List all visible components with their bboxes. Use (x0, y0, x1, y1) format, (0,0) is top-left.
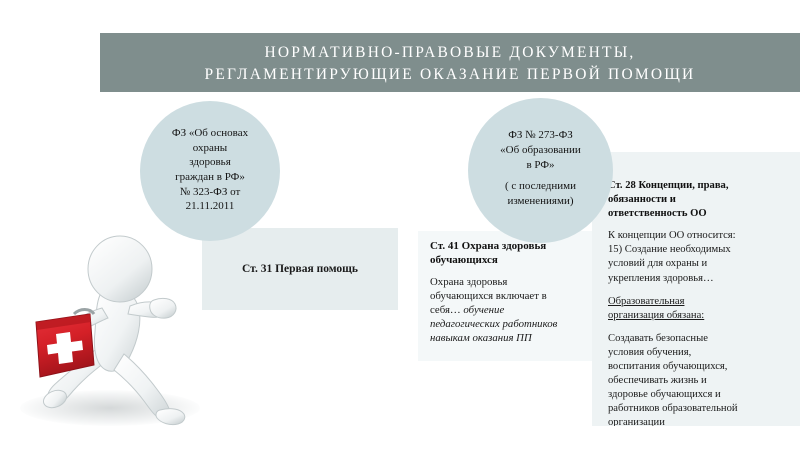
panel-article-28-underlined-lead: Образовательная организация обязана: (608, 295, 790, 323)
panel-article-41: Ст. 41 Охрана здоровья обучающихся Охран… (418, 231, 596, 361)
panel-article-41-body-line-3: себя… обучение (430, 303, 592, 317)
panel-article-28-heading-line-3: ответственность ОО (608, 207, 790, 221)
circle-fz-273-line-5: изменениями) (500, 194, 581, 209)
panel-article-28-paragraph-1-line-3: условий для охраны и (608, 257, 790, 271)
panel-article-28-paragraph-2-line-3: воспитания обучающихся, (608, 360, 790, 374)
panel-article-28-paragraph-2: Создавать безопасные условия обучения, в… (608, 332, 790, 426)
panel-article-28: Ст. 28 Концепции, права, обязанности и о… (592, 152, 800, 426)
page-title: НОРМАТИВНО-ПРАВОВЫЕ ДОКУМЕНТЫ, РЕГЛАМЕНТ… (100, 38, 800, 90)
panel-article-28-paragraph-1-line-4: укрепления здоровья… (608, 272, 790, 286)
circle-fz-273: ФЗ № 273-ФЗ «Об образовании в РФ» ( с по… (468, 98, 613, 243)
panel-article-41-heading-line-2: обучающихся (430, 254, 592, 268)
panel-article-28-paragraph-1: К концепции ОО относится: 15) Создание н… (608, 229, 790, 285)
panel-article-28-paragraph-2-line-5: здоровье обучающихся и (608, 388, 790, 402)
panel-article-28-paragraph-2-line-4: обеспечивать жизнь и (608, 374, 790, 388)
panel-article-41-body: Охрана здоровья обучающихся включает в с… (430, 275, 592, 345)
circle-fz-273-line-4: ( с последними (500, 179, 581, 194)
panel-article-28-paragraph-2-line-2: условия обучения, (608, 346, 790, 360)
panel-article-28-paragraph-1-line-2: 15) Создание необходимых (608, 243, 790, 257)
figure-front-foot (156, 409, 185, 425)
panel-article-28-paragraph-2-line-1: Создавать безопасные (608, 332, 790, 346)
panel-article-41-body-line-3-italic: обучение (463, 304, 504, 316)
slide-canvas: НОРМАТИВНО-ПРАВОВЫЕ ДОКУМЕНТЫ, РЕГЛАМЕНТ… (0, 0, 800, 450)
panel-article-28-heading-line-2: обязанности и (608, 193, 790, 207)
panel-article-31-text: Ст. 31 Первая помощь (202, 228, 398, 310)
circle-fz-273-text: ФЗ № 273-ФЗ «Об образовании в РФ» ( с по… (494, 128, 587, 209)
circle-fz-323-line-1: ФЗ «Об основах (172, 126, 248, 141)
running-person-illustration (14, 222, 219, 450)
panel-article-28-paragraph-2-line-6: работников образовательной (608, 402, 790, 416)
panel-article-41-body-line-3-plain: себя… (430, 304, 463, 316)
figure-head (88, 236, 152, 302)
circle-fz-323-line-5: № 323-ФЗ от (172, 185, 248, 200)
circle-fz-273-line-3: в РФ» (500, 158, 581, 173)
circle-fz-323-line-3: здоровья (172, 155, 248, 170)
panel-article-41-body-line-5: навыкам оказания ПП (430, 331, 592, 345)
circle-fz-323-line-6: 21.11.2011 (172, 199, 248, 214)
circle-fz-273-line-2: «Об образовании (500, 143, 581, 158)
page-title-line-2: РЕГЛАМЕНТИРУЮЩИЕ ОКАЗАНИЕ ПЕРВОЙ ПОМОЩИ (205, 64, 696, 86)
panel-article-41-body-line-4: педагогических работников (430, 317, 592, 331)
panel-article-28-heading: Ст. 28 Концепции, права, обязанности и о… (608, 179, 790, 220)
panel-article-41-body-line-2: обучающихся включает в (430, 289, 592, 303)
panel-article-41-heading: Ст. 41 Охрана здоровья обучающихся (430, 240, 592, 268)
panel-article-28-paragraph-2-line-7: организации (608, 416, 790, 426)
figure-fist (150, 298, 176, 318)
panel-article-28-underlined-line-1: Образовательная (608, 295, 790, 309)
circle-fz-323-text: ФЗ «Об основах охраны здоровья граждан в… (164, 126, 256, 214)
panel-article-28-heading-line-1: Ст. 28 Концепции, права, (608, 179, 790, 193)
panel-article-28-underlined-line-2: организация обязана: (608, 309, 790, 323)
circle-fz-323-line-2: охраны (172, 141, 248, 156)
panel-article-41-heading-line-1: Ст. 41 Охрана здоровья (430, 240, 592, 254)
running-person-icon (14, 222, 219, 450)
circle-fz-273-line-1: ФЗ № 273-ФЗ (500, 128, 581, 143)
panel-article-31: Ст. 31 Первая помощь (202, 228, 398, 310)
circle-fz-323: ФЗ «Об основах охраны здоровья граждан в… (140, 101, 280, 241)
panel-article-41-body-line-1: Охрана здоровья (430, 275, 592, 289)
circle-fz-323-line-4: граждан в РФ» (172, 170, 248, 185)
panel-article-28-paragraph-1-line-1: К концепции ОО относится: (608, 229, 790, 243)
page-title-line-1: НОРМАТИВНО-ПРАВОВЫЕ ДОКУМЕНТЫ, (265, 42, 636, 64)
